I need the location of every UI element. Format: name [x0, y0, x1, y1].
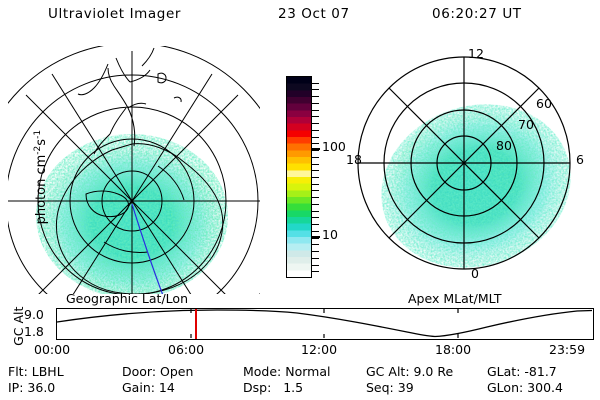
colorbar-unit-main: photon cm: [34, 155, 49, 225]
observation-time: 06:20:27 UT: [432, 8, 522, 22]
colorbar-tick: [312, 89, 319, 90]
colorbar-tick: [312, 170, 319, 171]
colorbar-tick: [312, 251, 319, 252]
colorbar-unit-exp2: -1: [33, 130, 43, 139]
colorbar-tick: [312, 244, 319, 245]
time-tick-0600: 06:00: [168, 344, 204, 357]
mlat-label-80: 80: [496, 140, 512, 153]
orbit-yaxis-title: GC Alt: [13, 298, 26, 354]
colorbar-tick: [312, 231, 319, 232]
colorbar-tick: [312, 217, 319, 218]
colorbar-tick: [312, 258, 319, 259]
colorbar-unit-mid: s: [34, 139, 49, 146]
colorbar-ticks: [312, 76, 320, 278]
apex-mlt-spokes: [358, 57, 570, 269]
orbit-ytick-low: 1.8: [24, 326, 44, 339]
orbit-ytick-high: 9.0: [24, 309, 44, 322]
colorbar-tick: [312, 271, 319, 272]
colorbar-major-tick: [312, 236, 320, 238]
orbit-yaxis-title-part1: GC: [11, 328, 26, 346]
colorbar-tick: [312, 177, 319, 178]
colorbar-tick: [312, 110, 319, 111]
colorbar-tick-label-10: 10: [322, 229, 338, 242]
time-tick-1800: 18:00: [435, 344, 471, 357]
app-title: Ultraviolet Imager: [48, 8, 181, 22]
time-tick-0000: 00:00: [34, 344, 70, 357]
apex-mlat-mlt-polar-plot[interactable]: 12 6 0 18 60 70 80: [340, 46, 592, 294]
status-door: Door: Open: [122, 366, 193, 379]
colorbar-tick: [312, 123, 319, 124]
mlt-label-12: 12: [468, 48, 484, 61]
mlat-label-70: 70: [518, 119, 534, 132]
colorbar-tick: [312, 137, 319, 138]
orbit-altitude-curve: [57, 309, 592, 338]
colorbar-major-tick: [312, 148, 320, 150]
colorbar-tick: [312, 164, 319, 165]
right-panel-caption: Apex MLat/MLT: [408, 293, 502, 306]
apex-plot-canvas: [340, 46, 592, 294]
status-gc-alt: GC Alt: 9.0 Re: [366, 366, 453, 379]
colorbar-gradient: [287, 77, 311, 277]
status-flt: Flt: LBHL: [8, 366, 64, 379]
colorbar-axis-title: photon cm-2s-1: [34, 82, 48, 272]
colorbar-tick: [312, 184, 319, 185]
colorbar[interactable]: [286, 76, 312, 278]
current-time-marker: [195, 309, 197, 339]
status-glon: GLon: 300.4: [487, 382, 563, 395]
status-gain: Gain: 14: [122, 382, 175, 395]
status-seq: Seq: 39: [366, 382, 414, 395]
time-tick-2359: 23:59: [549, 344, 585, 357]
mlat-label-60: 60: [536, 98, 552, 111]
mlt-label-18: 18: [346, 154, 362, 167]
colorbar-unit-exp1: -2: [33, 146, 43, 155]
colorbar-tick: [312, 96, 319, 97]
colorbar-tick: [312, 130, 319, 131]
colorbar-tick: [312, 224, 319, 225]
colorbar-tick: [312, 83, 319, 84]
colorbar-tick: [312, 265, 319, 266]
left-panel-caption: Geographic Lat/Lon: [66, 293, 188, 306]
orbit-altitude-plot[interactable]: [56, 308, 594, 340]
colorbar-tick: [312, 211, 319, 212]
status-ip: IP: 36.0: [8, 382, 55, 395]
colorbar-tick: [312, 143, 319, 144]
colorbar-tick: [312, 190, 319, 191]
colorbar-tick: [312, 197, 319, 198]
status-mode: Mode: Normal: [243, 366, 330, 379]
colorbar-tick: [312, 157, 319, 158]
colorbar-tick: [312, 103, 319, 104]
colorbar-tick: [312, 204, 319, 205]
time-tick-1200: 12:00: [301, 344, 337, 357]
mlt-label-6: 6: [576, 154, 584, 167]
colorbar-tick: [312, 116, 319, 117]
status-dsp: Dsp: 1.5: [243, 382, 303, 395]
colorbar-tick: [312, 150, 319, 151]
observation-date: 23 Oct 07: [278, 8, 350, 22]
mlt-label-0: 0: [471, 268, 479, 281]
status-glat: GLat: -81.7: [487, 366, 557, 379]
orbit-yaxis-title-part2: Alt: [11, 307, 26, 324]
